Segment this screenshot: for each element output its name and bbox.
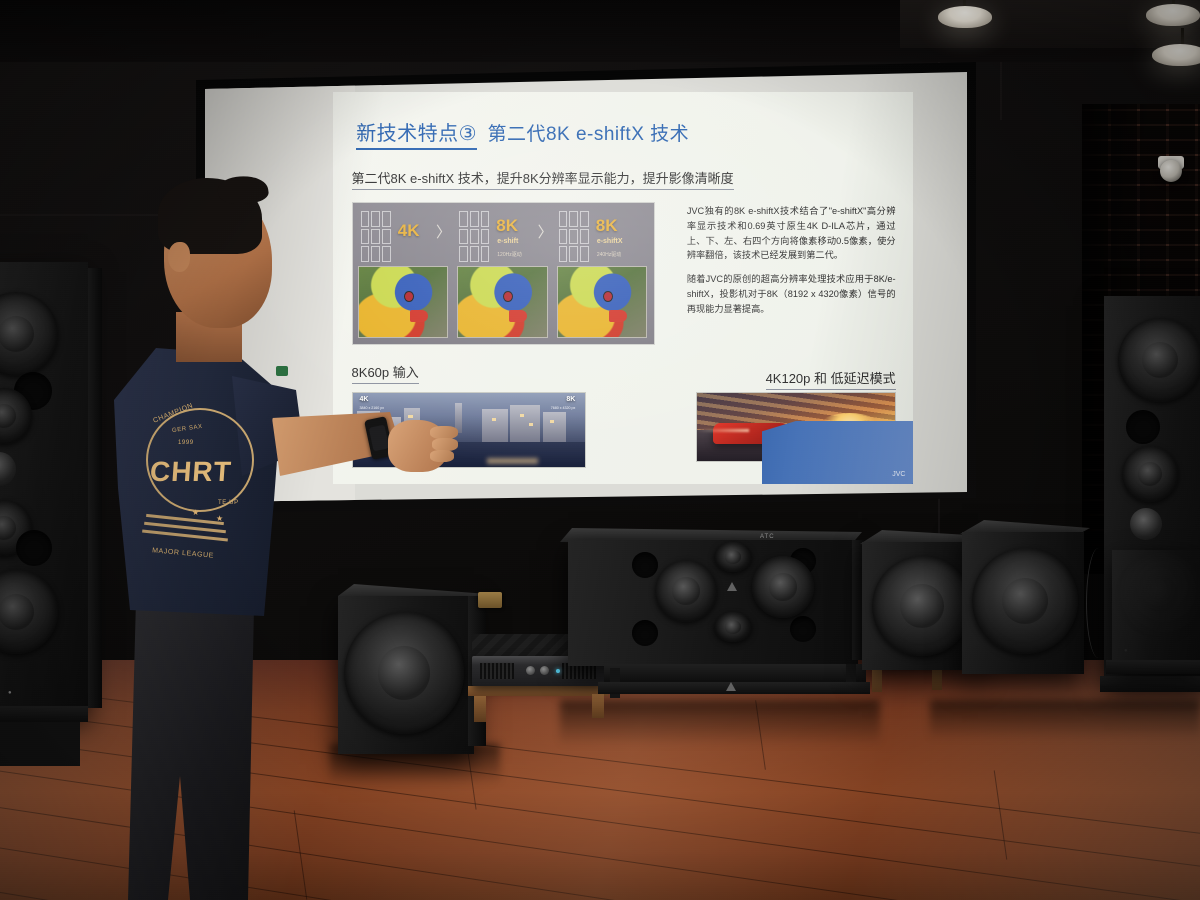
speaker-cable (1086, 548, 1111, 658)
tshirt-small-right-text: TE UP (218, 500, 239, 506)
amp-stand-leg (592, 694, 604, 718)
ceiling-light (1146, 4, 1200, 26)
amp-stand-leg (474, 696, 486, 722)
center-speaker-stand (604, 664, 866, 682)
surveillance-camera-icon (1160, 160, 1182, 182)
tshirt-main-word: CHRT (149, 456, 233, 488)
wall-outlet (478, 592, 502, 608)
comparison-step-8k-eshift: 8K e-shift 120Hz驱动 〉 (453, 203, 554, 344)
stand-logo-icon (726, 682, 736, 691)
comparison-sub2-120hz: 120Hz驱动 (497, 251, 521, 258)
comparison-sub-eshiftx: e-shiftX (597, 238, 623, 245)
center-speaker-midrange-bottom (714, 612, 752, 642)
presenter-pants (128, 600, 254, 900)
presenter-finger (430, 450, 454, 462)
comparison-separator: 〉 (538, 221, 553, 242)
center-speaker-logo-icon (727, 582, 737, 591)
comparison-label-8k: 8K (496, 218, 518, 234)
bird-sample-image (557, 266, 647, 339)
comparison-sub2-240hz: 240Hz驱动 (597, 251, 621, 258)
presenter: CHAMPION GER SAX 1999 CHRT TE UP ★ ★ MAJ… (100, 170, 430, 900)
left-tower-badge: ● (8, 690, 13, 696)
jvc-logo: JVC (892, 471, 905, 478)
ceiling-light (1152, 44, 1200, 66)
floor-reflection (930, 700, 1200, 740)
right-tower-mid (1122, 446, 1178, 502)
center-speaker-woofer-right (752, 556, 814, 618)
center-speaker-port-bl (632, 620, 658, 646)
section-heading-4k120p: 4K120p 和 低延迟模式 (766, 368, 896, 390)
right-subwoofer-2-driver (972, 548, 1078, 654)
amp-stand-leg (872, 670, 882, 692)
comparison-label-8k-x: 8K (596, 218, 618, 234)
amp-stand-leg (932, 668, 942, 690)
right-tower-base (1100, 676, 1200, 692)
presenter-mic-clip (276, 366, 288, 376)
tshirt-year-text: 1999 (178, 440, 194, 446)
ceiling-light (938, 6, 992, 28)
left-tower-plinth (0, 722, 80, 766)
slide-footer-graphic: JVC (762, 421, 913, 484)
comparison-separator: 〉 (436, 221, 451, 242)
presenter-ear (168, 242, 190, 272)
pixel-grid-icon (559, 211, 589, 262)
center-speaker-brand: ATC (760, 534, 775, 540)
left-tower-port-2 (16, 530, 52, 566)
right-equipment-rack (1112, 550, 1200, 670)
body-paragraph-1: JVC独有的8K e-shiftX技术结合了"e-shiftX"高分辨率显示技术… (687, 204, 896, 264)
slide-title-marked: 新技术特点③ (356, 117, 477, 150)
center-speaker-port-br (790, 616, 816, 642)
right-subwoofer-1-driver (872, 556, 972, 656)
right-tower-tweeter (1130, 508, 1162, 540)
comparison-step-8k-eshiftx: 8K e-shiftX 240Hz驱动 (554, 203, 655, 344)
tshirt-star-icon: ★ (192, 508, 199, 517)
right-tower-port (1126, 410, 1160, 444)
slide-title-row: 新技术特点③ 第二代8K e-shiftX 技术 (356, 117, 679, 150)
center-speaker-port-tl (632, 552, 658, 578)
city-tag-8k-res: 7680 x 4320 px (551, 406, 576, 410)
floor-reflection (560, 700, 880, 746)
slide-title-main: 第二代8K e-shiftX 技术 (487, 119, 689, 146)
body-paragraph-2: 随着JVC的原创的超高分辨率处理技术应用于8K/e-shiftX，投影机对于8K… (687, 272, 896, 317)
right-tower-woofer-1 (1118, 318, 1200, 402)
pixel-grid-icon (459, 211, 489, 262)
bird-sample-image (457, 266, 547, 339)
right-rack-shelf (1106, 660, 1200, 674)
amp-wood-stand-left (468, 686, 608, 696)
center-speaker-woofer-left (655, 560, 717, 622)
slide-body-text: JVC独有的8K e-shiftX技术结合了"e-shiftX"高分辨率显示技术… (687, 204, 896, 326)
home-theater-scene: 新技术特点③ 第二代8K e-shiftX 技术 第二代8K e-shiftX … (0, 0, 1200, 900)
left-tower-base (0, 706, 88, 722)
city-tag-8k: 8K (566, 396, 575, 403)
center-speaker-midrange-top (714, 542, 752, 572)
comparison-sub-eshift: e-shift (497, 238, 518, 245)
